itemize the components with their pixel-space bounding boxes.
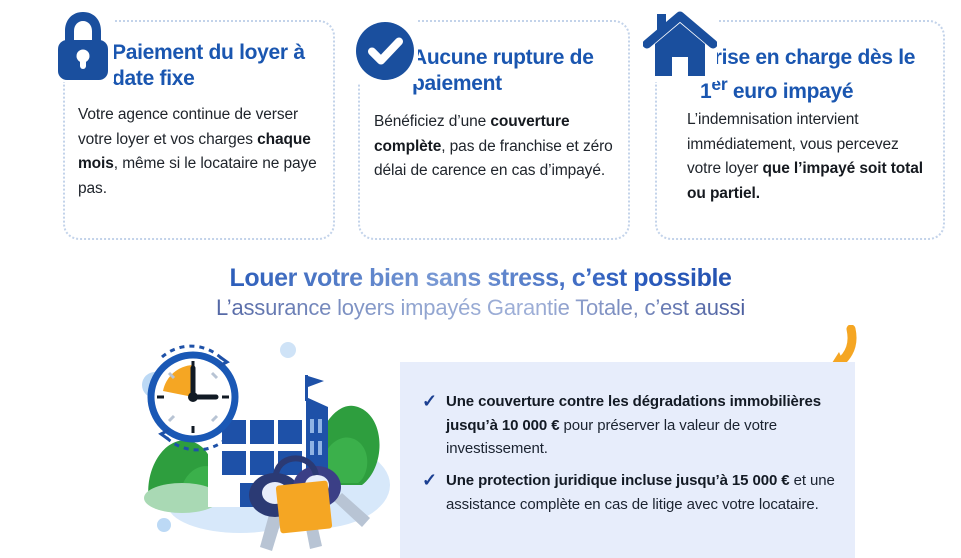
building-clock-keys-illustration <box>120 335 410 558</box>
feature-card-3-body: L’indemnisation intervient immédiatement… <box>687 108 932 206</box>
house-icon <box>643 10 717 82</box>
check-circle-icon <box>352 18 418 84</box>
page-headline: Louer votre bien sans stress, c’est poss… <box>0 264 961 293</box>
feature-card-2-title: Aucune rupture de paiement <box>412 45 622 97</box>
padlock-icon <box>52 8 114 82</box>
benefit-item-2-text: Une protection juridique incluse jusqu’à… <box>446 469 837 516</box>
feature-card-3-title: Prise en charge dès le 1er euro impayé <box>700 45 945 105</box>
benefit-item-1-text: Une couverture contre les dégradations i… <box>446 390 837 461</box>
benefits-panel: ✓ Une couverture contre les dégradations… <box>400 362 855 558</box>
feature-card-2-body: Bénéficiez d’une couverture complète, pa… <box>374 110 619 184</box>
infographic-page: Paiement du loyer à date fixe Votre agen… <box>0 0 961 558</box>
feature-card-1-title: Paiement du loyer à date fixe <box>112 40 337 92</box>
benefit-item-2: ✓ Une protection juridique incluse jusqu… <box>422 469 837 516</box>
clock-icon <box>151 355 235 439</box>
feature-card-1-body: Votre agence continue de verser votre lo… <box>78 103 326 201</box>
benefit-item-1: ✓ Une couverture contre les dégradations… <box>422 390 837 461</box>
check-mark-icon: ✓ <box>422 469 446 516</box>
check-mark-icon: ✓ <box>422 390 446 461</box>
page-subheadline: L’assurance loyers impayés Garantie Tota… <box>0 295 961 321</box>
